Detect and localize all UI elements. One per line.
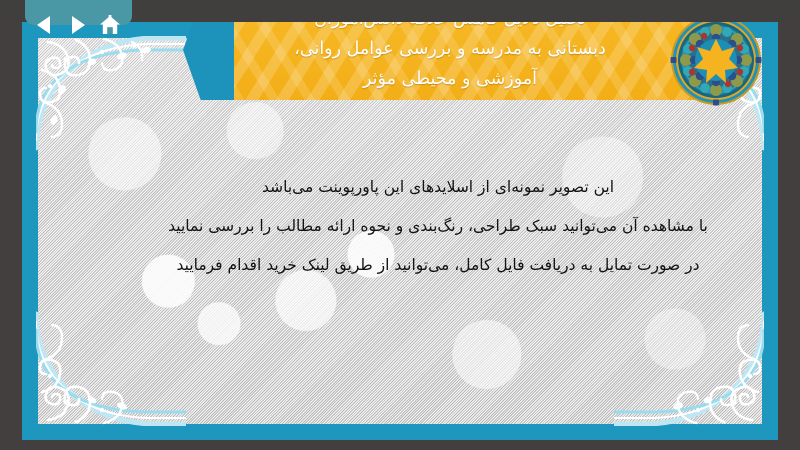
body-line-3: در صورت تمایل به دریافت فایل کامل، می‌تو…	[88, 246, 762, 285]
persian-medallion-icon	[670, 14, 762, 106]
forward-button[interactable]	[65, 12, 91, 36]
triangle-left-icon	[37, 16, 50, 34]
slide-body-text: این تصویر نمونه‌ای از اسلایدهای این پاور…	[88, 168, 762, 285]
top-navigation-bar	[0, 0, 800, 22]
home-button[interactable]	[96, 12, 122, 36]
body-line-2: با مشاهده آن می‌توانید سبک طراحی، رنگ‌بن…	[88, 207, 762, 246]
triangle-right-icon	[72, 16, 85, 34]
slide-viewer: این تصویر نمونه‌ای از اسلایدهای این پاور…	[0, 0, 800, 450]
back-button[interactable]	[32, 12, 58, 36]
home-icon	[99, 15, 121, 39]
body-line-1: این تصویر نمونه‌ای از اسلایدهای این پاور…	[88, 168, 762, 207]
